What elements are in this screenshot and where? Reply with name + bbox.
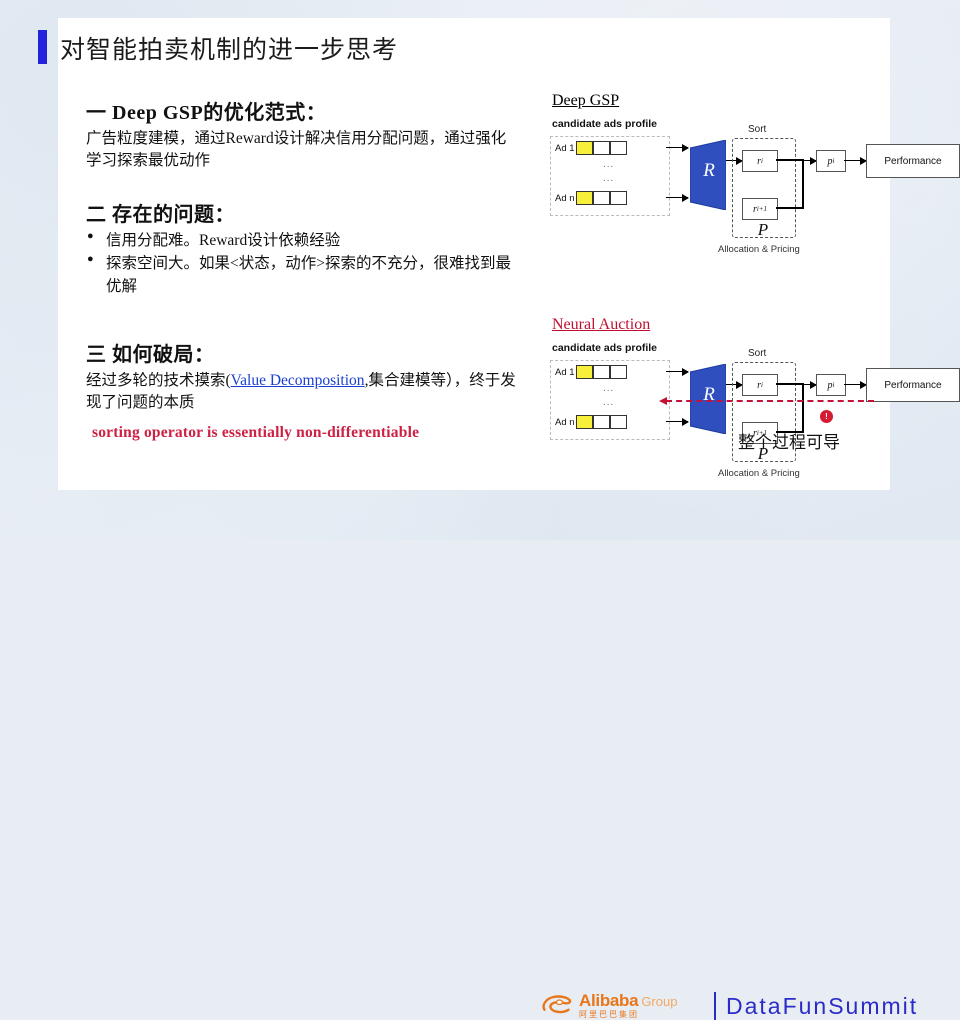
footer-bar: Alibaba Group 阿里巴巴集团 DataFunSummit xyxy=(0,490,960,540)
ranking-symbol: R xyxy=(698,384,720,406)
ad-cell-highlight xyxy=(576,141,593,155)
sort-label: Sort xyxy=(748,124,766,135)
ad-row-first: Ad 1 xyxy=(555,141,627,155)
brand-name: Alibaba xyxy=(579,992,638,1009)
arrow-ad1-to-module xyxy=(666,147,688,148)
ad-row-label: Ad n xyxy=(555,417,575,428)
emphasis-statement: sorting operator is essentially non-diff… xyxy=(92,424,419,442)
section-one-heading: 一 Deep GSP的优化范式： xyxy=(86,96,516,125)
ellipsis: ... xyxy=(603,383,614,394)
value-decomposition-link[interactable]: Value Decomposition xyxy=(231,372,365,389)
ad-row-last: Ad n xyxy=(555,415,627,429)
arrow-sort-to-price xyxy=(802,160,816,161)
alibaba-mark-icon xyxy=(540,993,576,1019)
ad-cell-highlight xyxy=(576,365,593,379)
connector-ri1 xyxy=(776,207,804,209)
diagram-neural-auction: Neural Auction candidate ads profile Ad … xyxy=(548,316,888,506)
node-subscript: i xyxy=(761,157,763,165)
section-three-heading: 三 如何破局： xyxy=(86,338,516,367)
section-one: 一 Deep GSP的优化范式： 广告粒度建模，通过Reward设计解决信用分配… xyxy=(86,96,516,172)
brand-group: Group xyxy=(641,995,677,1008)
arrow-price-to-performance xyxy=(844,160,866,161)
node-subscript: i xyxy=(833,157,835,165)
page-title: 对智能拍卖机制的进一步思考 xyxy=(60,30,398,66)
list-item: 探索空间大。如果<状态，动作>探索的不充分，很难找到最优解 xyxy=(86,253,516,298)
ad-cell xyxy=(610,365,627,379)
price-node: pi xyxy=(816,374,846,396)
node-subscript: i xyxy=(761,381,763,389)
ellipsis: ... xyxy=(603,173,614,184)
brand-name-cn: 阿里巴巴集团 xyxy=(579,1011,677,1019)
price-node: pi xyxy=(816,150,846,172)
pricing-symbol: P xyxy=(732,220,794,240)
section-two-heading: 二 存在的问题： xyxy=(86,198,516,227)
section-two: 二 存在的问题： 信用分配难。Reward设计依赖经验 探索空间大。如果<状态，… xyxy=(86,198,516,298)
section-three-body: 经过多轮的技术摸索(Value Decomposition,集合建模等），终于发… xyxy=(86,370,516,414)
performance-box: Performance xyxy=(866,144,960,178)
ellipsis: ... xyxy=(603,159,614,170)
differentiable-note: 整个过程可导 xyxy=(738,428,840,453)
arrow-adn-to-module xyxy=(666,197,688,198)
ad-cell xyxy=(593,191,610,205)
title-accent-bar xyxy=(38,30,47,64)
candidate-ads-group: Ad 1 ... ... Ad n xyxy=(550,360,670,440)
ad-cell xyxy=(610,415,627,429)
event-name: DataFunSummit xyxy=(726,993,918,1020)
diagram-title: Neural Auction xyxy=(552,316,650,334)
alibaba-logo: Alibaba Group 阿里巴巴集团 xyxy=(540,992,677,1019)
connector-vertical xyxy=(802,383,804,433)
arrow-ad1-to-module xyxy=(666,371,688,372)
connector-ri xyxy=(776,383,804,385)
diagram-deep-gsp: Deep GSP candidate ads profile Ad 1 ... … xyxy=(548,92,888,282)
ad-cell xyxy=(593,415,610,429)
ad-cell xyxy=(610,191,627,205)
footer-divider xyxy=(714,992,716,1020)
node-subscript: i xyxy=(833,381,835,389)
alibaba-wordmark: Alibaba Group 阿里巴巴集团 xyxy=(579,992,677,1019)
diagram-caption: Allocation & Pricing xyxy=(718,468,800,479)
ad-cell xyxy=(593,365,610,379)
node-subscript: i+1 xyxy=(757,205,767,213)
diagram-caption: Allocation & Pricing xyxy=(718,244,800,255)
ad-cell xyxy=(593,141,610,155)
arrow-adn-to-module xyxy=(666,421,688,422)
ad-row-label: Ad 1 xyxy=(555,367,575,378)
ad-row-label: Ad 1 xyxy=(555,143,575,154)
rank-node-i: ri xyxy=(742,150,778,172)
diagram-title: Deep GSP xyxy=(552,92,619,110)
diagram-subtitle: candidate ads profile xyxy=(552,342,657,354)
candidate-ads-group: Ad 1 ... ... Ad n xyxy=(550,136,670,216)
section-three: 三 如何破局： 经过多轮的技术摸索(Value Decomposition,集合… xyxy=(86,338,516,414)
ad-cell-highlight xyxy=(576,191,593,205)
backpropagation-arrow xyxy=(666,400,874,402)
diagram-subtitle: candidate ads profile xyxy=(552,118,657,130)
backprop-marker-icon: ! xyxy=(820,410,833,423)
rank-node-i-plus-1: ri+1 xyxy=(742,198,778,220)
ad-row-last: Ad n xyxy=(555,191,627,205)
list-item: 信用分配难。Reward设计依赖经验 xyxy=(86,230,516,252)
ellipsis: ... xyxy=(603,397,614,408)
connector-ri xyxy=(776,159,804,161)
section-one-body: 广告粒度建模，通过Reward设计解决信用分配问题，通过强化学习探索最优动作 xyxy=(86,128,516,172)
performance-box: Performance xyxy=(866,368,960,402)
ranking-symbol: R xyxy=(698,160,720,182)
body-prefix: 经过多轮的技术摸索( xyxy=(86,372,231,389)
ad-row-label: Ad n xyxy=(555,193,575,204)
connector-vertical xyxy=(802,159,804,209)
rank-node-i: ri xyxy=(742,374,778,396)
arrow-sort-to-price xyxy=(802,384,816,385)
ad-row-first: Ad 1 xyxy=(555,365,627,379)
left-content-column: 一 Deep GSP的优化范式： 广告粒度建模，通过Reward设计解决信用分配… xyxy=(86,96,516,440)
ad-cell-highlight xyxy=(576,415,593,429)
problem-list: 信用分配难。Reward设计依赖经验 探索空间大。如果<状态，动作>探索的不充分… xyxy=(86,230,516,298)
arrow-price-to-performance xyxy=(844,384,866,385)
ad-cell xyxy=(610,141,627,155)
sort-label: Sort xyxy=(748,348,766,359)
